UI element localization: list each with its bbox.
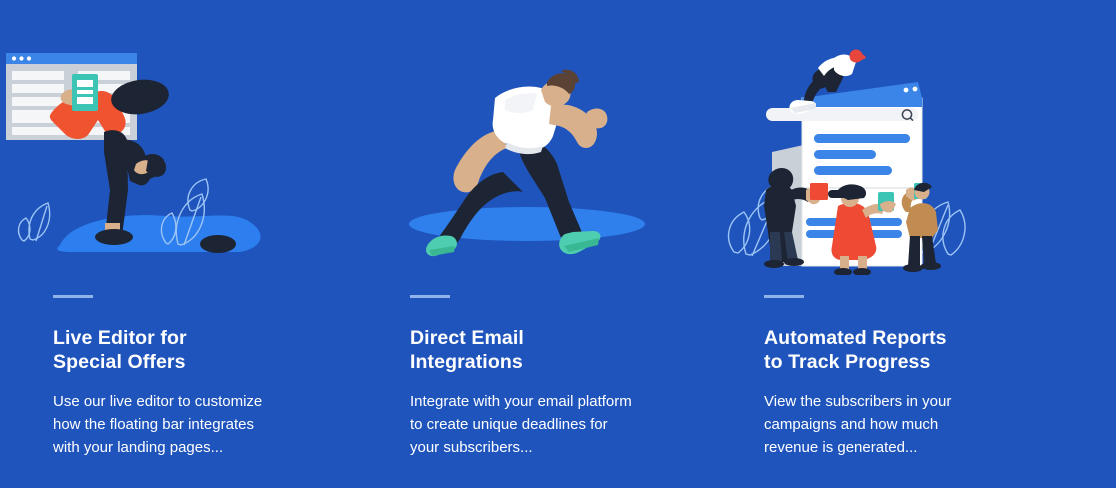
feature-card-automated-reports: Automated Reports to Track Progress View… (710, 0, 1065, 488)
feature-text-automated-reports: Automated Reports to Track Progress View… (764, 295, 1054, 460)
divider-rule (410, 295, 450, 298)
live-editor-illustration (0, 40, 355, 275)
feature-section: Live Editor for Special Offers Use our l… (0, 0, 1116, 488)
feature-heading: Live Editor for Special Offers (53, 326, 343, 374)
divider-rule (764, 295, 804, 298)
feature-body: Integrate with your email platform to cr… (410, 390, 700, 460)
feature-text-live-editor: Live Editor for Special Offers Use our l… (53, 295, 343, 460)
feature-body: Use our live editor to customize how the… (53, 390, 343, 460)
feature-heading: Automated Reports to Track Progress (764, 326, 1054, 374)
divider-rule (53, 295, 93, 298)
feature-heading: Direct Email Integrations (410, 326, 700, 374)
feature-text-direct-email: Direct Email Integrations Integrate with… (410, 295, 700, 460)
feature-card-live-editor: Live Editor for Special Offers Use our l… (0, 0, 355, 488)
feature-body: View the subscribers in your campaigns a… (764, 390, 1054, 460)
feature-card-direct-email: Direct Email Integrations Integrate with… (355, 0, 710, 488)
direct-email-illustration (355, 40, 710, 275)
automated-reports-illustration (710, 40, 1065, 275)
feature-columns: Live Editor for Special Offers Use our l… (0, 0, 1116, 488)
